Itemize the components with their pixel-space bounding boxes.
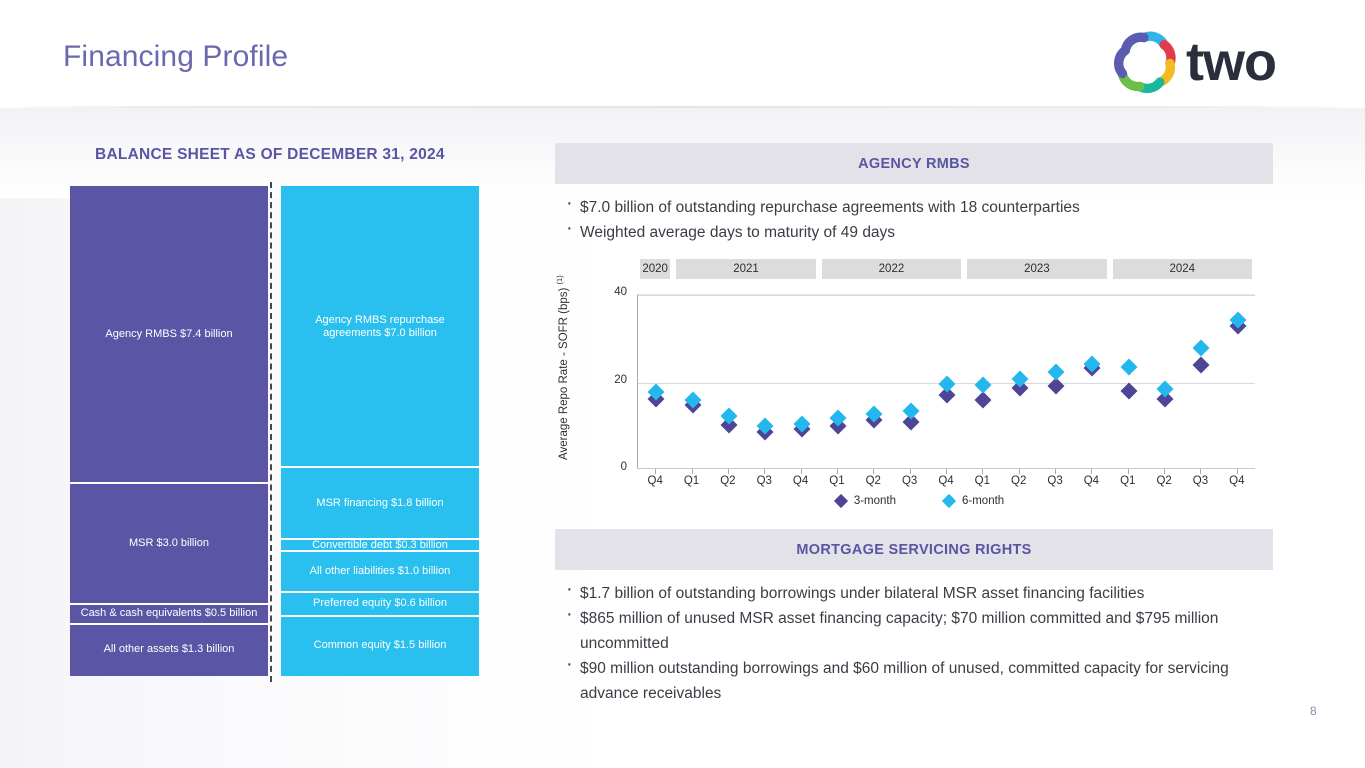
x-tick-label: Q3 xyxy=(749,475,779,487)
year-band-label: 2022 xyxy=(879,263,905,275)
data-point xyxy=(1193,357,1210,374)
year-band: 2023 xyxy=(967,259,1106,279)
x-tick-label: Q2 xyxy=(1004,475,1034,487)
legend-label: 3-month xyxy=(854,495,896,507)
x-tick-label: Q4 xyxy=(640,475,670,487)
x-tick-label: Q1 xyxy=(967,475,997,487)
legend-item: 6-month xyxy=(944,495,1004,507)
chart-legend: 3-month6-month xyxy=(575,495,1265,507)
liability-segment: MSR financing $1.8 billion xyxy=(281,467,479,539)
x-tick-mark xyxy=(728,469,729,474)
liability-segment-label: All other liabilities $1.0 billion xyxy=(310,565,451,578)
x-tick-mark xyxy=(946,469,947,474)
asset-segment: Agency RMBS $7.4 billion xyxy=(70,186,268,483)
x-tick-mark xyxy=(1164,469,1165,474)
year-band-label: 2024 xyxy=(1169,263,1195,275)
x-tick-mark xyxy=(764,469,765,474)
mortgage-servicing-rights-heading: MORTGAGE SERVICING RIGHTS xyxy=(555,529,1273,570)
liability-segment: All other liabilities $1.0 billion xyxy=(281,551,479,591)
y-axis-label: Average Repo Rate - SOFR (bps) (1) xyxy=(555,275,570,460)
liability-segment-label: Preferred equity $0.6 billion xyxy=(313,597,447,610)
x-tick-mark xyxy=(1091,469,1092,474)
liability-segment-label: Agency RMBS repurchase agreements $7.0 b… xyxy=(285,314,475,340)
data-point xyxy=(975,391,992,408)
repo-rate-scatter-chart: 20202021202220232024 Average Repo Rate -… xyxy=(575,255,1265,520)
company-logo: two xyxy=(1108,24,1298,100)
x-tick-label: Q4 xyxy=(931,475,961,487)
year-band: 2022 xyxy=(822,259,961,279)
bullet-item: $1.7 billion of outstanding borrowings u… xyxy=(558,581,1258,606)
liability-segment-label: MSR financing $1.8 billion xyxy=(316,497,443,510)
data-point xyxy=(1120,359,1137,376)
x-tick-label: Q1 xyxy=(1113,475,1143,487)
page-title: Financing Profile xyxy=(63,40,288,74)
y-tick-label: 40 xyxy=(601,286,627,298)
x-tick-label: Q1 xyxy=(677,475,707,487)
x-tick-mark xyxy=(655,469,656,474)
balance-sheet-chart: Agency RMBS $7.4 billionMSR $3.0 billion… xyxy=(70,186,480,676)
liability-segment-label: Common equity $1.5 billion xyxy=(314,639,447,652)
year-band-label: 2021 xyxy=(733,263,759,275)
data-point xyxy=(902,402,919,419)
x-tick-label: Q3 xyxy=(895,475,925,487)
liabilities-equity-bar: Agency RMBS repurchase agreements $7.0 b… xyxy=(281,186,479,676)
liability-segment: Agency RMBS repurchase agreements $7.0 b… xyxy=(281,186,479,467)
x-tick-mark xyxy=(873,469,874,474)
liability-segment: Preferred equity $0.6 billion xyxy=(281,592,479,616)
year-band-label: 2023 xyxy=(1024,263,1050,275)
slide-header: Financing Profile two xyxy=(0,0,1365,108)
x-tick-label: Q3 xyxy=(1040,475,1070,487)
x-tick-label: Q1 xyxy=(822,475,852,487)
asset-segment-label: All other assets $1.3 billion xyxy=(104,643,235,656)
data-point xyxy=(939,376,956,393)
asset-segment-label: Agency RMBS $7.4 billion xyxy=(105,328,232,341)
x-tick-mark xyxy=(1237,469,1238,474)
x-tick-mark xyxy=(1019,469,1020,474)
plot-area xyxy=(637,294,1255,469)
legend-swatch-icon xyxy=(834,494,848,508)
asset-segment: All other assets $1.3 billion xyxy=(70,624,268,676)
data-point xyxy=(1193,340,1210,357)
x-tick-label: Q4 xyxy=(1076,475,1106,487)
balance-sheet-title: BALANCE SHEET AS OF DECEMBER 31, 2024 xyxy=(95,146,445,164)
bullet-item: Weighted average days to maturity of 49 … xyxy=(558,220,1278,245)
logo-wordmark: two xyxy=(1186,34,1276,90)
x-tick-label: Q3 xyxy=(1185,475,1215,487)
x-tick-mark xyxy=(801,469,802,474)
assets-bar: Agency RMBS $7.4 billionMSR $3.0 billion… xyxy=(70,186,268,676)
year-band-label: 2020 xyxy=(642,263,668,275)
bullet-item: $7.0 billion of outstanding repurchase a… xyxy=(558,195,1278,220)
header-divider xyxy=(0,106,1365,108)
x-tick-mark xyxy=(692,469,693,474)
bullet-item: $90 million outstanding borrowings and $… xyxy=(558,656,1258,706)
x-tick-mark xyxy=(837,469,838,474)
year-band: 2024 xyxy=(1113,259,1252,279)
x-tick-mark xyxy=(910,469,911,474)
x-tick-mark xyxy=(1200,469,1201,474)
legend-swatch-icon xyxy=(942,494,956,508)
data-point xyxy=(1048,378,1065,395)
data-point xyxy=(1120,383,1137,400)
y-axis-label-text: Average Repo Rate - SOFR (bps) xyxy=(558,284,570,460)
agency-rmbs-heading: AGENCY RMBS xyxy=(555,143,1273,184)
liability-segment: Common equity $1.5 billion xyxy=(281,616,479,676)
x-tick-label: Q2 xyxy=(858,475,888,487)
x-tick-label: Q2 xyxy=(713,475,743,487)
legend-label: 6-month xyxy=(962,495,1004,507)
bullet-item: $865 million of unused MSR asset financi… xyxy=(558,606,1258,656)
x-tick-mark xyxy=(1128,469,1129,474)
year-band: 2021 xyxy=(676,259,815,279)
asset-segment: Cash & cash equivalents $0.5 billion xyxy=(70,604,268,624)
y-tick-label: 0 xyxy=(601,461,627,473)
y-tick-label: 20 xyxy=(601,374,627,386)
page-number: 8 xyxy=(1310,704,1317,718)
gridline xyxy=(638,295,1255,296)
bar-divider-dashed xyxy=(270,182,272,682)
x-tick-mark xyxy=(1055,469,1056,474)
year-band: 2020 xyxy=(640,259,670,279)
legend-item: 3-month xyxy=(836,495,896,507)
asset-segment: MSR $3.0 billion xyxy=(70,483,268,603)
asset-segment-label: Cash & cash equivalents $0.5 billion xyxy=(81,607,258,620)
data-point xyxy=(975,376,992,393)
agency-rmbs-bullet-list: $7.0 billion of outstanding repurchase a… xyxy=(558,195,1278,245)
x-tick-label: Q4 xyxy=(786,475,816,487)
asset-segment-label: MSR $3.0 billion xyxy=(129,537,209,550)
y-axis-label-footnote: (1) xyxy=(555,275,564,284)
logo-star-icon xyxy=(1108,26,1180,98)
data-point xyxy=(1048,363,1065,380)
x-tick-label: Q2 xyxy=(1149,475,1179,487)
x-tick-mark xyxy=(982,469,983,474)
msr-bullet-list: $1.7 billion of outstanding borrowings u… xyxy=(558,581,1258,706)
x-tick-label: Q4 xyxy=(1222,475,1252,487)
